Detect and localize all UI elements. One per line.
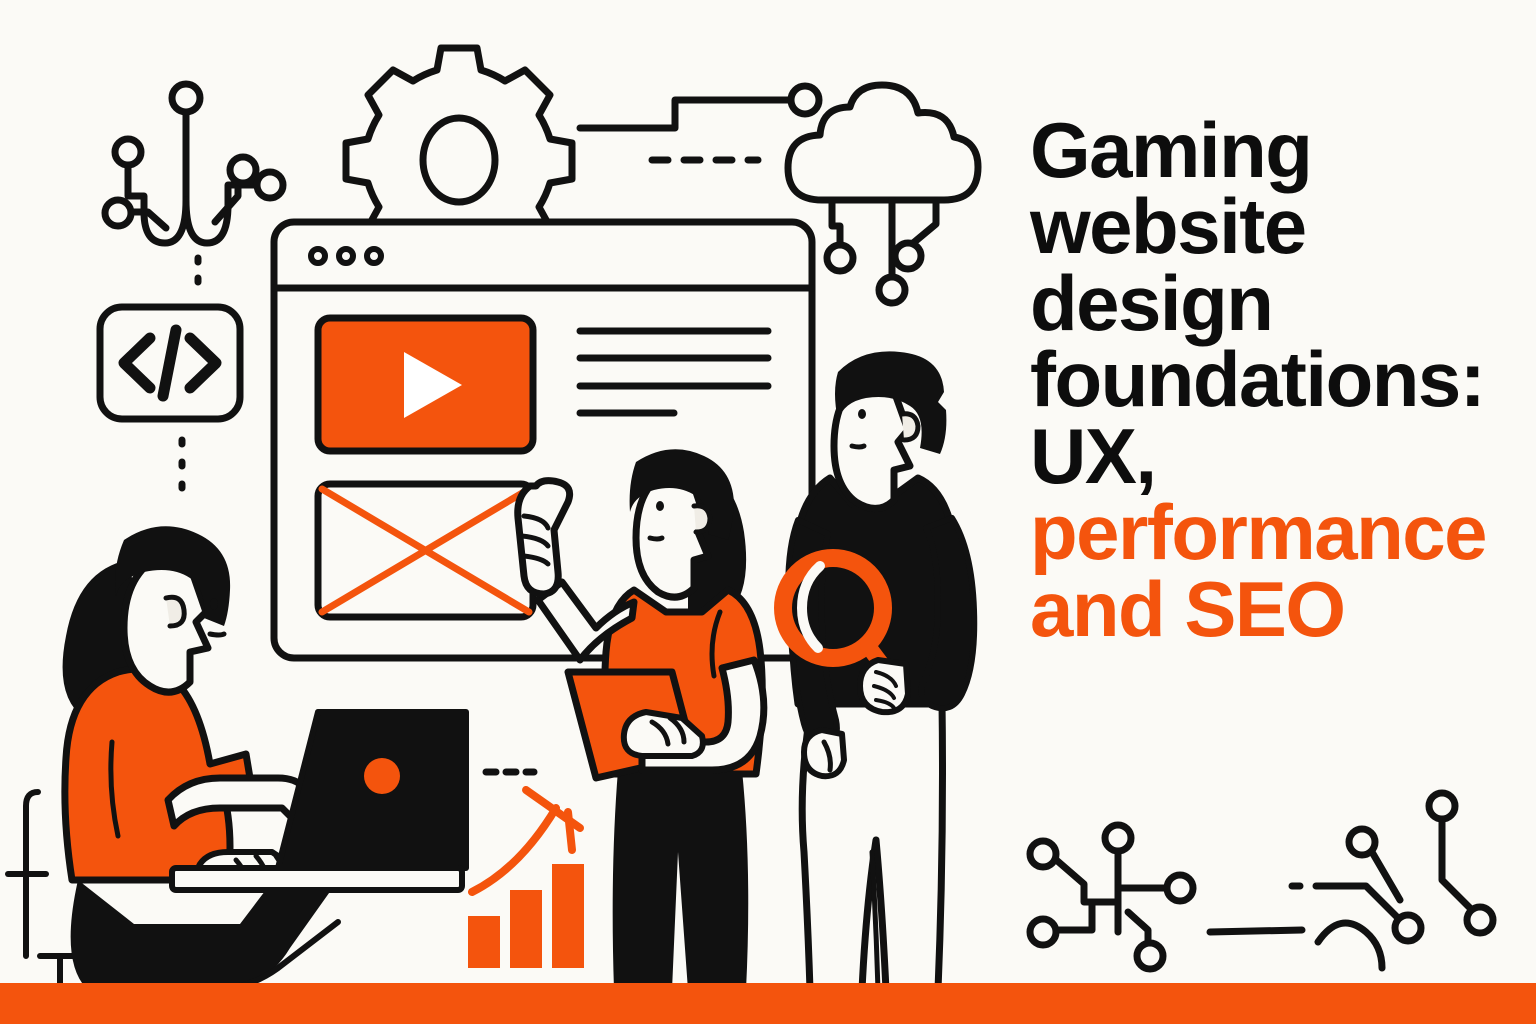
circuit-line-node [791, 86, 819, 114]
headline-line-7-accent: and SEO [1030, 565, 1345, 653]
standing-woman-eye [656, 501, 664, 511]
headline-line-6-accent: performance [1030, 488, 1486, 576]
poster-canvas: Gaming website design foundations: UX, p… [0, 0, 1536, 1024]
standing-man-mouth [852, 446, 864, 447]
laptop-logo-dot [364, 758, 400, 794]
standing-man-left-hand [804, 730, 844, 776]
headline-line-2: website [1030, 182, 1306, 270]
desk-surface [172, 868, 462, 890]
standing-woman-mouth [650, 538, 662, 539]
standing-man-right-hand [860, 660, 908, 712]
bar-1 [468, 916, 500, 968]
headline-line-4: foundations: [1030, 335, 1484, 423]
page-title: Gaming website design foundations: UX, p… [1030, 112, 1530, 647]
headline-line-5: UX, [1030, 412, 1156, 500]
standing-woman-ear [694, 506, 710, 532]
headline-line-1: Gaming [1030, 106, 1311, 194]
woman-seated-mouth [210, 634, 224, 635]
browser-traffic-lights[interactable] [311, 249, 381, 263]
bar-3 [552, 864, 584, 968]
standing-man-ear [902, 414, 918, 440]
standing-man-eye [858, 409, 866, 419]
bar-2 [510, 890, 542, 968]
woman-seated-eye [210, 598, 218, 610]
bottom-accent-bar [0, 983, 1536, 1024]
headline-line-3: design [1030, 259, 1272, 347]
